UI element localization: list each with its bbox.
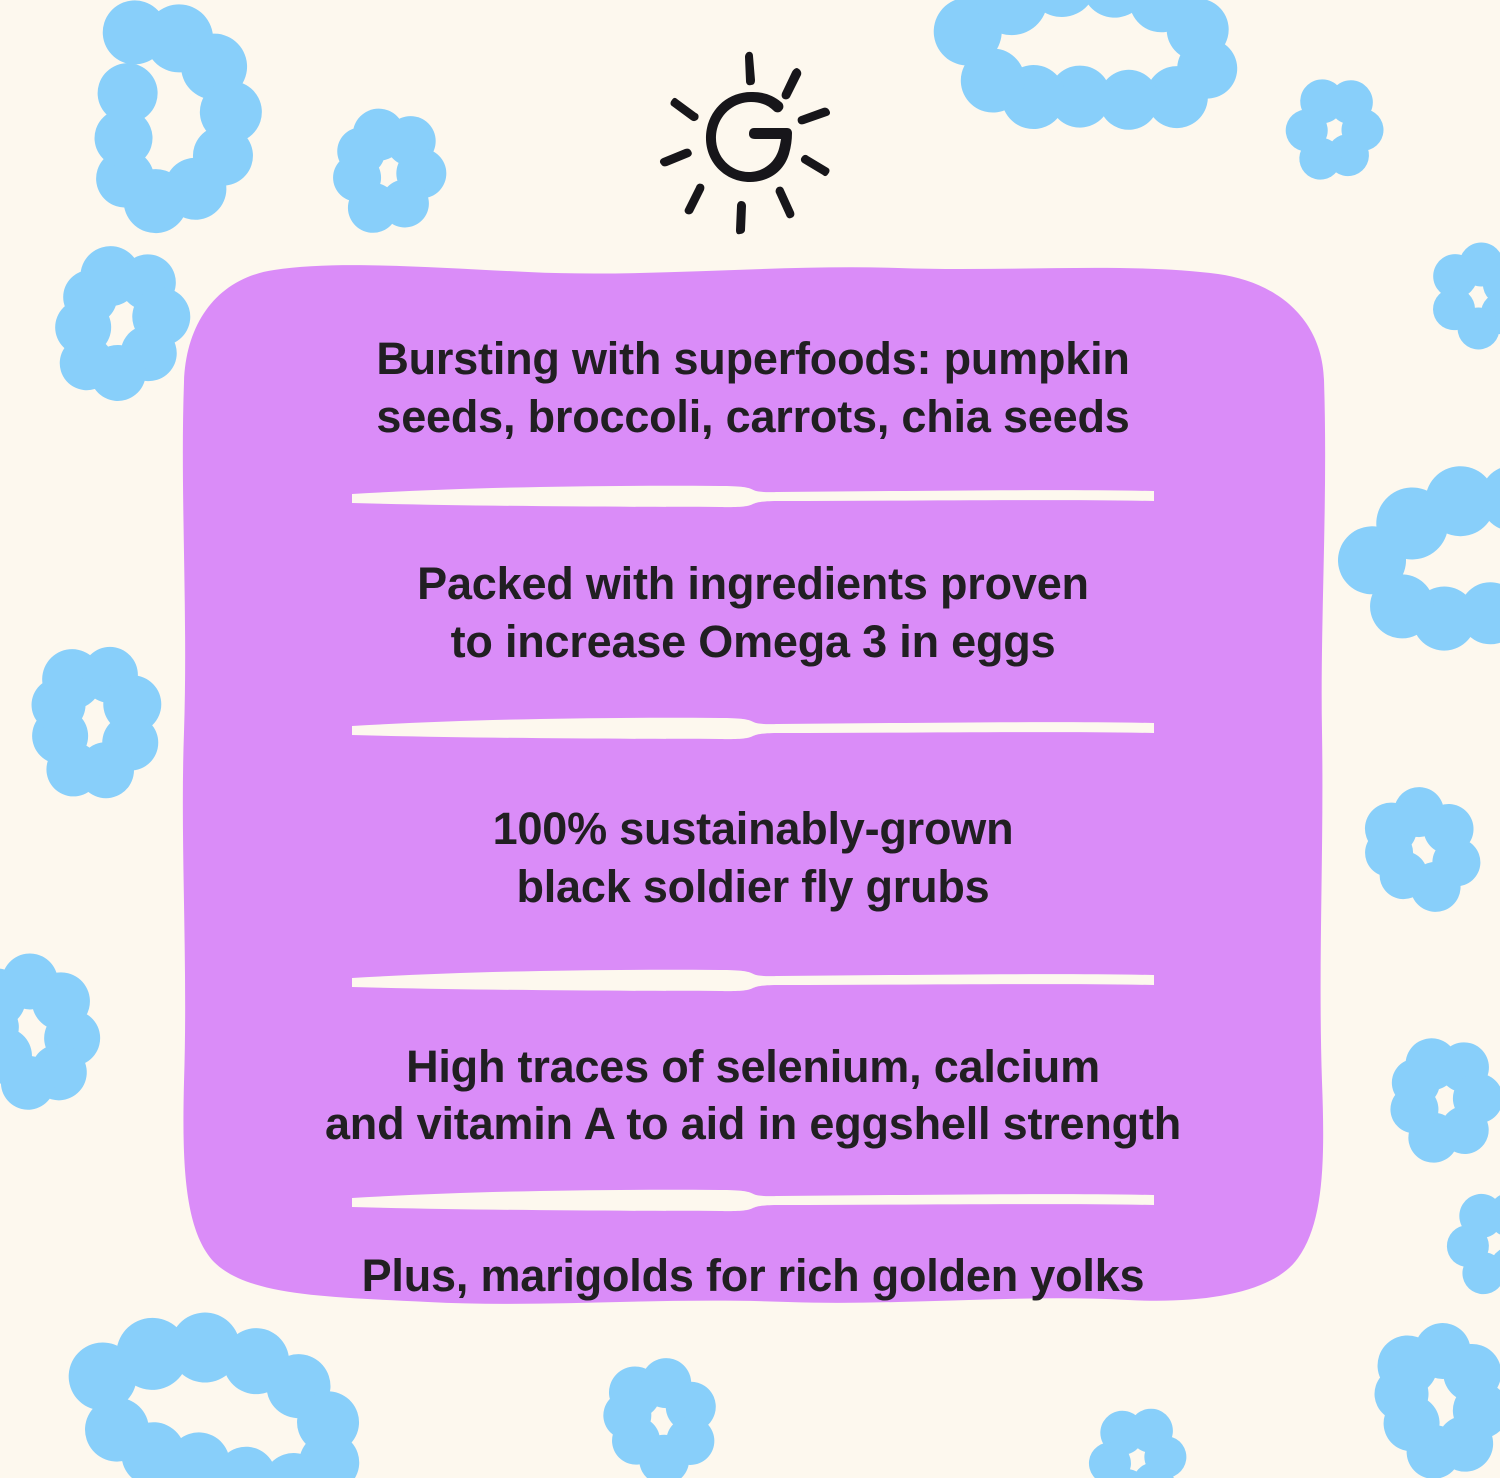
divider-2: [348, 712, 1158, 746]
blue-cloud-blob: [14, 633, 176, 812]
blue-cloud-blob: [1421, 235, 1500, 358]
blue-cloud-blob: [1083, 1401, 1193, 1478]
blue-cloud-blob: [1370, 1319, 1500, 1478]
feature-superfoods: Bursting with superfoods: pumpkin seeds,…: [218, 330, 1288, 445]
poster-canvas: Bursting with superfoods: pumpkin seeds,…: [0, 0, 1500, 1478]
blue-cloud-blob: [1439, 1183, 1500, 1303]
blue-cloud-blob: [1322, 428, 1500, 690]
blue-cloud-blob: [598, 1353, 724, 1478]
feature-omega-3: Packed with ingredients proven to increa…: [218, 555, 1288, 670]
features-list: Bursting with superfoods: pumpkin seeds,…: [178, 262, 1328, 1310]
blue-cloud-blob: [0, 945, 109, 1117]
blue-cloud-blob: [1373, 1025, 1500, 1177]
features-panel: Bursting with superfoods: pumpkin seeds,…: [178, 262, 1328, 1310]
sun-g-logo-icon: [645, 48, 855, 243]
divider-1: [348, 479, 1158, 513]
blue-cloud-blob: [60, 1303, 369, 1478]
blue-cloud-blob: [924, 0, 1244, 160]
blue-cloud-blob: [47, 0, 292, 256]
divider-3: [348, 962, 1158, 996]
divider-4: [348, 1183, 1158, 1217]
blue-cloud-blob: [1348, 772, 1497, 929]
blue-cloud-blob: [312, 93, 464, 252]
feature-grubs: 100% sustainably-grown black soldier fly…: [218, 800, 1288, 915]
feature-eggshell: High traces of selenium, calcium and vit…: [218, 1038, 1288, 1153]
blue-cloud-blob: [1275, 67, 1394, 192]
feature-marigolds: Plus, marigolds for rich golden yolks: [218, 1247, 1288, 1305]
